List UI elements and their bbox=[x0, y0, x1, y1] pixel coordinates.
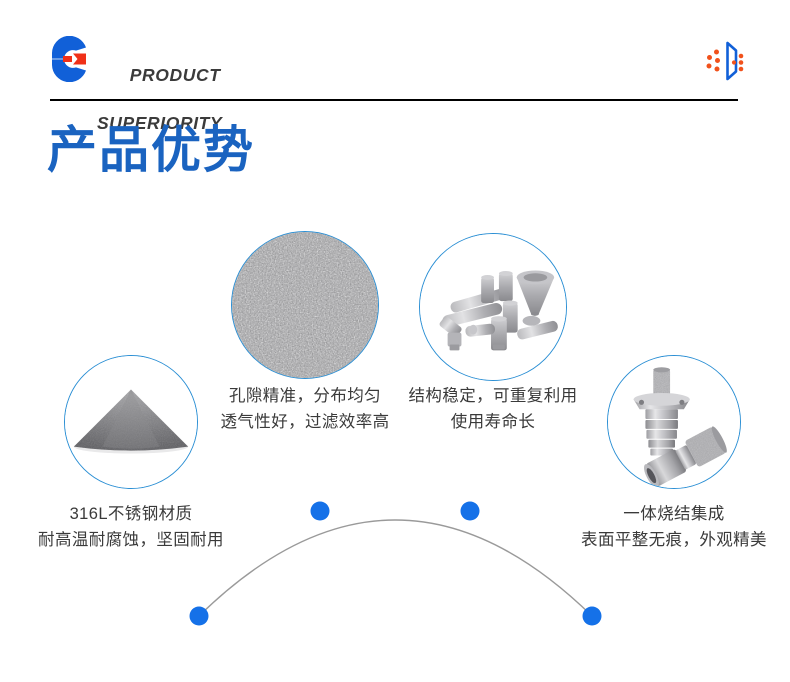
dotted-d-decoration-icon bbox=[703, 40, 749, 82]
arc-dot bbox=[461, 502, 480, 521]
arc-dot bbox=[583, 607, 602, 626]
sintered-porous-texture-photo bbox=[231, 231, 379, 379]
flanged-filter-assembly-photo bbox=[607, 355, 741, 489]
feature-caption: 一体烧结集成 表面平整无痕，外观精美 bbox=[565, 501, 783, 553]
feature-pore-precision: 孔隙精准，分布均匀 透气性好，过滤效率高 bbox=[231, 231, 379, 379]
filter-elements-group-photo bbox=[419, 233, 567, 381]
caption-line-2: 使用寿命长 bbox=[406, 409, 580, 435]
page-title: 产品优势 bbox=[47, 119, 255, 181]
company-c-logo-icon bbox=[46, 36, 92, 82]
caption-line-1: 316L不锈钢材质 bbox=[24, 501, 238, 527]
caption-line-1: 孔隙精准，分布均匀 bbox=[211, 383, 399, 409]
arc-dot bbox=[311, 502, 330, 521]
feature-caption: 孔隙精准，分布均匀 透气性好，过滤效率高 bbox=[211, 383, 399, 435]
brand-line-1: PRODUCT bbox=[130, 65, 221, 85]
feature-structure-stability: 结构稳定，可重复利用 使用寿命长 bbox=[419, 233, 567, 381]
caption-line-2: 透气性好，过滤效率高 bbox=[211, 409, 399, 435]
caption-line-1: 结构稳定，可重复利用 bbox=[406, 383, 580, 409]
product-superiority-page: PRODUCT SUPERIORITY bbox=[0, 0, 790, 682]
metal-powder-cone-photo bbox=[64, 355, 198, 489]
caption-line-2: 表面平整无痕，外观精美 bbox=[565, 527, 783, 553]
page-header: PRODUCT SUPERIORITY bbox=[0, 0, 790, 110]
feature-caption: 316L不锈钢材质 耐高温耐腐蚀，坚固耐用 bbox=[24, 501, 238, 553]
arc-dot bbox=[190, 607, 209, 626]
header-divider bbox=[50, 99, 738, 101]
caption-line-1: 一体烧结集成 bbox=[565, 501, 783, 527]
feature-caption: 结构稳定，可重复利用 使用寿命长 bbox=[406, 383, 580, 435]
caption-line-2: 耐高温耐腐蚀，坚固耐用 bbox=[24, 527, 238, 553]
feature-integrated-sintering: 一体烧结集成 表面平整无痕，外观精美 bbox=[607, 355, 741, 489]
feature-stainless-material: 316L不锈钢材质 耐高温耐腐蚀，坚固耐用 bbox=[64, 355, 198, 489]
